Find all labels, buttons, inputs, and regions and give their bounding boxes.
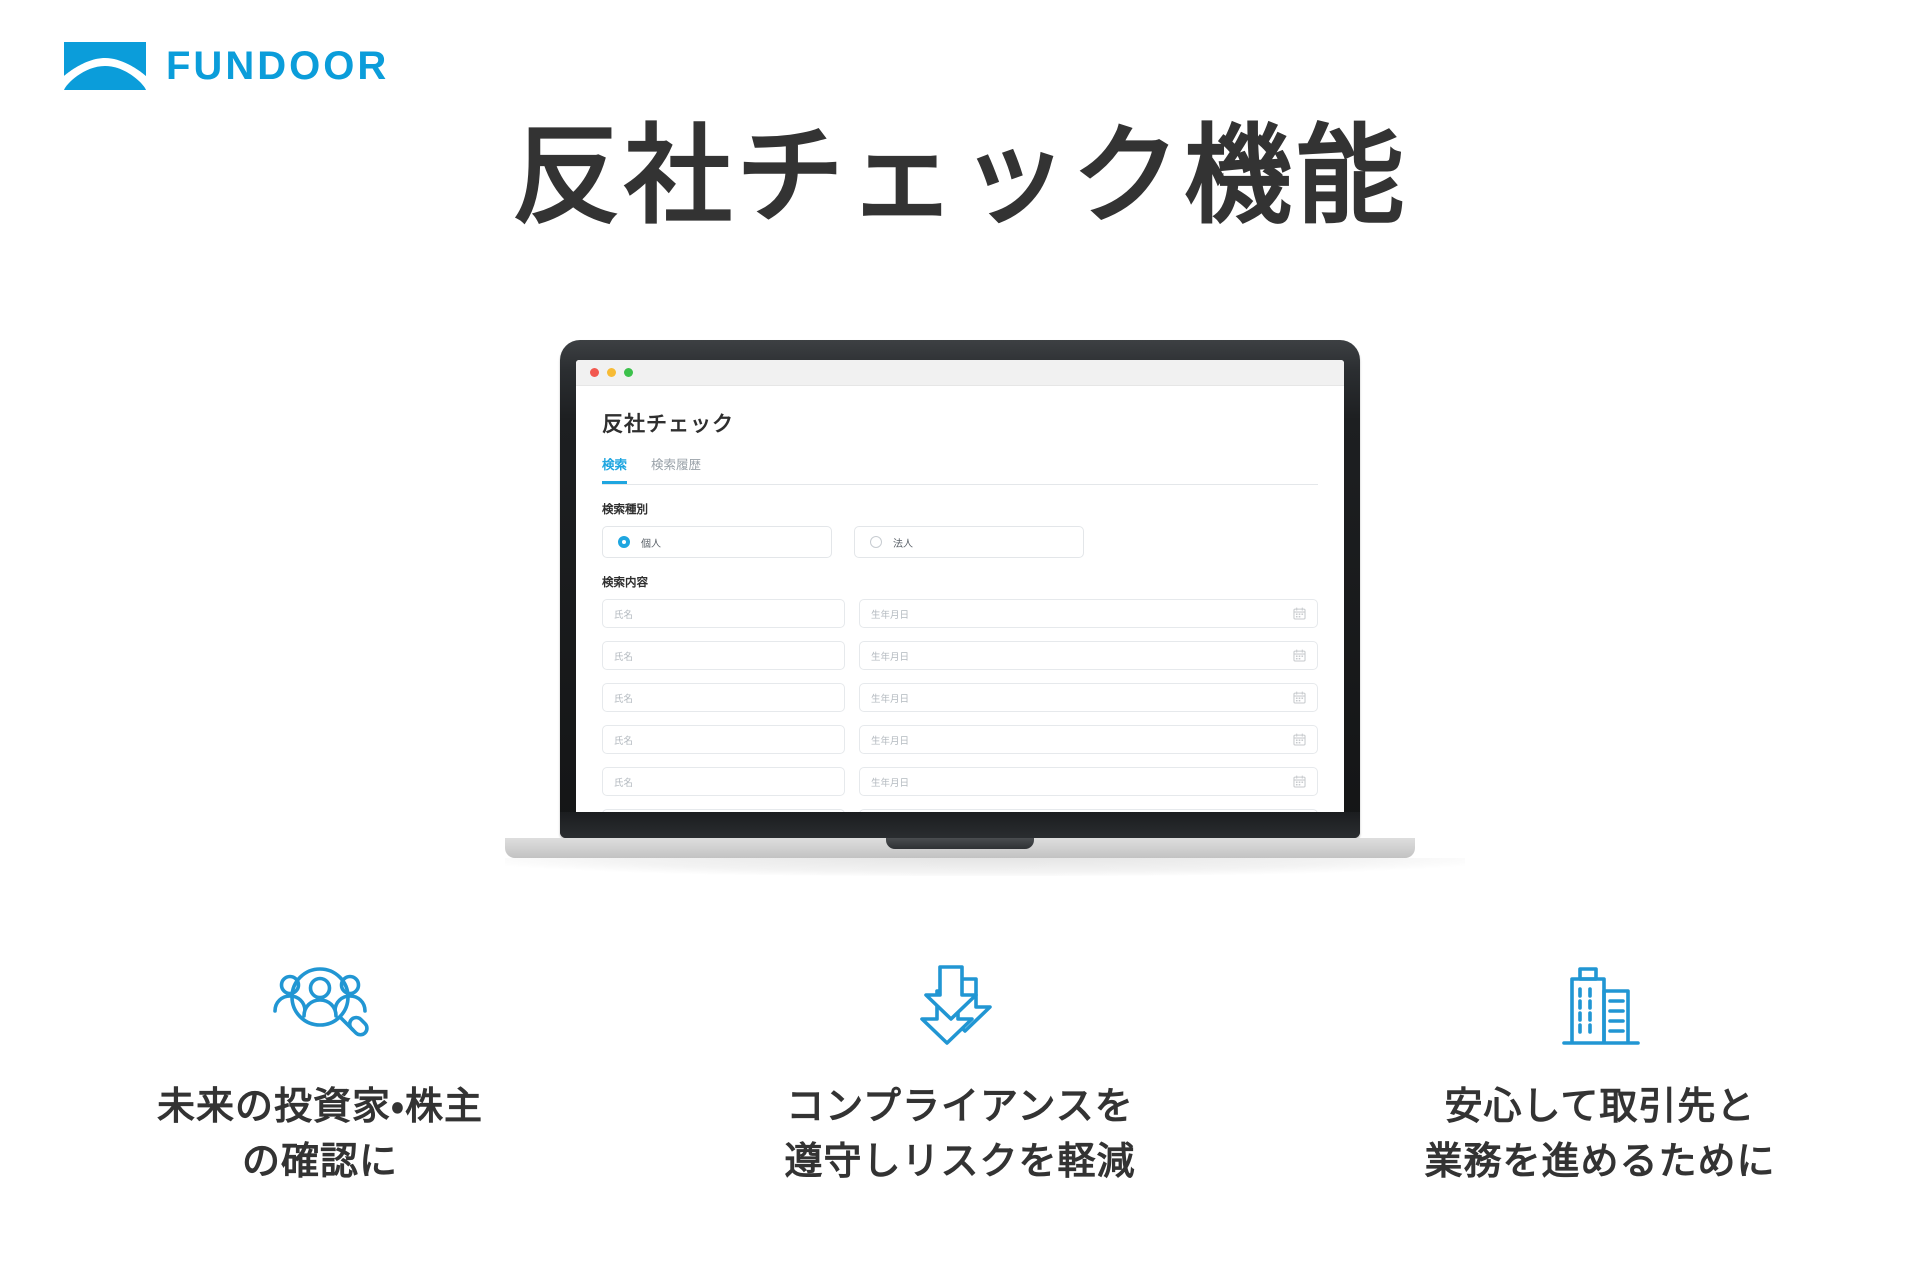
close-window-dot-icon[interactable] [590, 368, 599, 377]
calendar-icon[interactable] [1293, 691, 1306, 704]
name-input[interactable]: 氏名 [602, 683, 845, 712]
office-buildings-icon [1550, 950, 1650, 1055]
feature-list: 未来の投資家・株主 の確認に コンプライアンスを 遵守しリスクを軽減 [0, 950, 1920, 1189]
radio-icon-corporate[interactable] [870, 536, 882, 548]
page-title: 反社チェック機能 [0, 118, 1920, 237]
people-search-icon [264, 950, 376, 1055]
laptop-screen: 反社チェック 検索 検索履歴 検索種別 個人 法人 [576, 360, 1344, 812]
laptop-shadow [505, 858, 1465, 876]
search-row: 氏名 生年月日 [602, 683, 1318, 712]
feature-item-investor-check: 未来の投資家・株主 の確認に [0, 950, 640, 1189]
zoom-window-dot-icon[interactable] [624, 368, 633, 377]
brand-logo[interactable]: FUNDOOR [62, 40, 389, 92]
laptop-mockup: 反社チェック 検索 検索履歴 検索種別 個人 法人 [505, 340, 1415, 876]
calendar-icon[interactable] [1293, 733, 1306, 746]
search-row: 氏名 生年月日 [602, 641, 1318, 670]
search-row: 氏名 生年月日 [602, 767, 1318, 796]
laptop-base [505, 838, 1415, 858]
down-arrows-icon [910, 950, 1010, 1055]
browser-titlebar [576, 360, 1344, 386]
birthdate-input[interactable]: 生年月日 [859, 641, 1318, 670]
birthdate-input[interactable]: 生年月日 [859, 683, 1318, 712]
birthdate-placeholder: 生年月日 [871, 775, 909, 789]
feature-caption-line1: 安心して取引先と [1424, 1079, 1775, 1134]
feature-caption-line2: の確認に [157, 1134, 483, 1189]
search-row: 氏名 生年月日 [602, 599, 1318, 628]
calendar-icon[interactable] [1293, 607, 1306, 620]
tab-search-history[interactable]: 検索履歴 [651, 454, 701, 484]
calendar-icon[interactable] [1293, 775, 1306, 788]
brand-wordmark: FUNDOOR [166, 46, 389, 86]
birthdate-placeholder: 生年月日 [871, 691, 909, 705]
search-content-rows: 氏名 生年月日 氏名 生年月日 [602, 599, 1318, 812]
laptop-lid: 反社チェック 検索 検索履歴 検索種別 個人 法人 [560, 340, 1360, 838]
tab-bar: 検索 検索履歴 [602, 454, 1318, 485]
feature-caption: 安心して取引先と 業務を進めるために [1424, 1079, 1775, 1189]
app-page-title: 反社チェック [602, 408, 1318, 438]
search-type-options: 個人 法人 [602, 526, 1318, 558]
tab-search[interactable]: 検索 [602, 454, 627, 484]
radio-option-individual[interactable]: 個人 [602, 526, 832, 558]
birthdate-placeholder: 生年月日 [871, 649, 909, 663]
minimize-window-dot-icon[interactable] [607, 368, 616, 377]
search-row: 氏名 生年月日 [602, 809, 1318, 812]
birthdate-input[interactable]: 生年月日 [859, 809, 1318, 812]
radio-option-corporate[interactable]: 法人 [854, 526, 1084, 558]
birthdate-input[interactable]: 生年月日 [859, 599, 1318, 628]
birthdate-input[interactable]: 生年月日 [859, 767, 1318, 796]
slide-root: FUNDOOR 反社チェック機能 反社チェック 検索 検索履歴 検索種別 [0, 0, 1920, 1280]
radio-label-corporate: 法人 [893, 535, 913, 550]
feature-caption: コンプライアンスを 遵守しリスクを軽減 [784, 1079, 1135, 1189]
radio-icon-individual[interactable] [618, 536, 630, 548]
fundoor-arch-logo-icon [62, 40, 148, 92]
feature-caption-line1: 未来の投資家・株主 [157, 1079, 483, 1134]
search-content-label: 検索内容 [602, 574, 1318, 590]
feature-item-compliance: コンプライアンスを 遵守しリスクを軽減 [640, 950, 1280, 1189]
feature-caption: 未来の投資家・株主 の確認に [157, 1079, 483, 1189]
feature-item-business-partners: 安心して取引先と 業務を進めるために [1280, 950, 1920, 1189]
name-input[interactable]: 氏名 [602, 725, 845, 754]
name-input[interactable]: 氏名 [602, 599, 845, 628]
radio-label-individual: 個人 [641, 535, 661, 550]
calendar-icon[interactable] [1293, 649, 1306, 662]
name-input[interactable]: 氏名 [602, 809, 845, 812]
search-row: 氏名 生年月日 [602, 725, 1318, 754]
name-input[interactable]: 氏名 [602, 641, 845, 670]
birthdate-placeholder: 生年月日 [871, 607, 909, 621]
name-input[interactable]: 氏名 [602, 767, 845, 796]
feature-caption-line2: 業務を進めるために [1424, 1134, 1775, 1189]
birthdate-placeholder: 生年月日 [871, 733, 909, 747]
feature-caption-line2: 遵守しリスクを軽減 [784, 1134, 1135, 1189]
birthdate-input[interactable]: 生年月日 [859, 725, 1318, 754]
feature-caption-line1: コンプライアンスを [784, 1079, 1135, 1134]
app-content: 反社チェック 検索 検索履歴 検索種別 個人 法人 [576, 386, 1344, 812]
search-type-label: 検索種別 [602, 501, 1318, 517]
